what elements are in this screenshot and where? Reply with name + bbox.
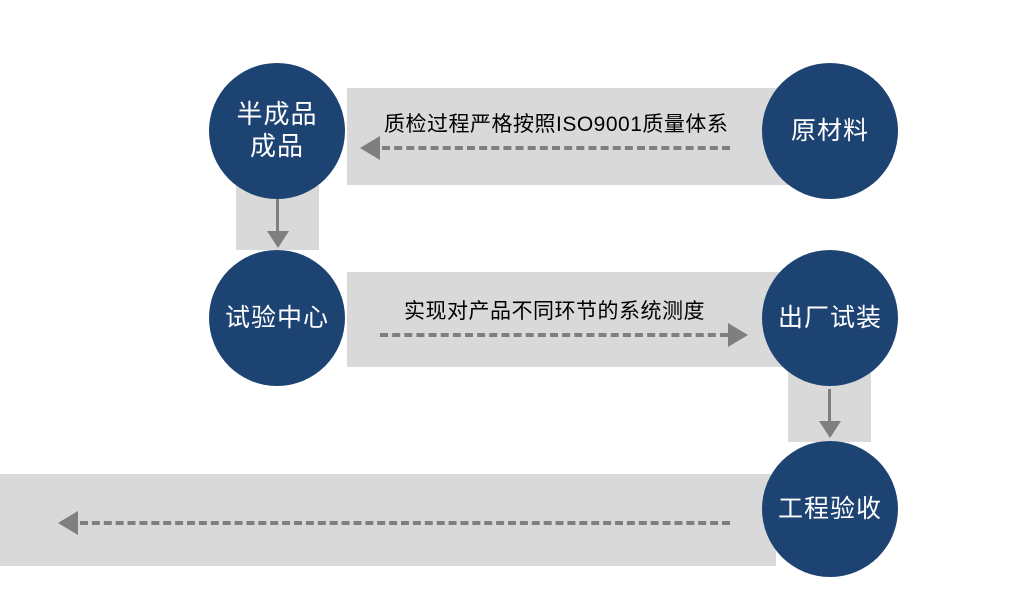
node-raw-material[interactable]: 原材料	[762, 63, 898, 199]
node-label-line: 半成品	[236, 99, 317, 131]
node-label-line: 原材料	[791, 116, 869, 147]
arrow-line-acceptance-offpage	[80, 521, 730, 525]
node-label-line: 成品	[250, 131, 304, 163]
node-label-line: 试验中心	[225, 303, 329, 334]
node-semi-finished-finished[interactable]: 半成品 成品	[209, 63, 345, 199]
edge-caption-test-to-factory: 实现对产品不同环节的系统测度	[404, 295, 705, 325]
arrow-head-test-to-factory	[728, 323, 748, 347]
arrow-head-factory-to-acceptance	[819, 421, 841, 438]
node-factory-trial-assembly[interactable]: 出厂试装	[762, 250, 898, 386]
arrow-head-semi-to-test	[267, 231, 289, 248]
node-label-line: 出厂试装	[778, 303, 882, 334]
edge-caption-raw-to-semi: 质检过程严格按照ISO9001质量体系	[384, 108, 728, 138]
arrow-head-acceptance-offpage	[58, 511, 78, 535]
node-label-line: 工程验收	[778, 494, 882, 525]
arrow-head-raw-to-semi	[360, 136, 380, 160]
arrow-line-test-to-factory	[380, 333, 728, 337]
connector-bar-bottom-row	[0, 474, 776, 566]
node-test-center[interactable]: 试验中心	[209, 250, 345, 386]
arrow-line-semi-to-test	[276, 199, 279, 232]
process-flow-diagram: 质检过程严格按照ISO9001质量体系 实现对产品不同环节的系统测度 半成品 成…	[0, 0, 1010, 600]
arrow-line-factory-to-acceptance	[828, 389, 831, 422]
arrow-line-raw-to-semi	[382, 146, 730, 150]
node-project-acceptance[interactable]: 工程验收	[762, 441, 898, 577]
